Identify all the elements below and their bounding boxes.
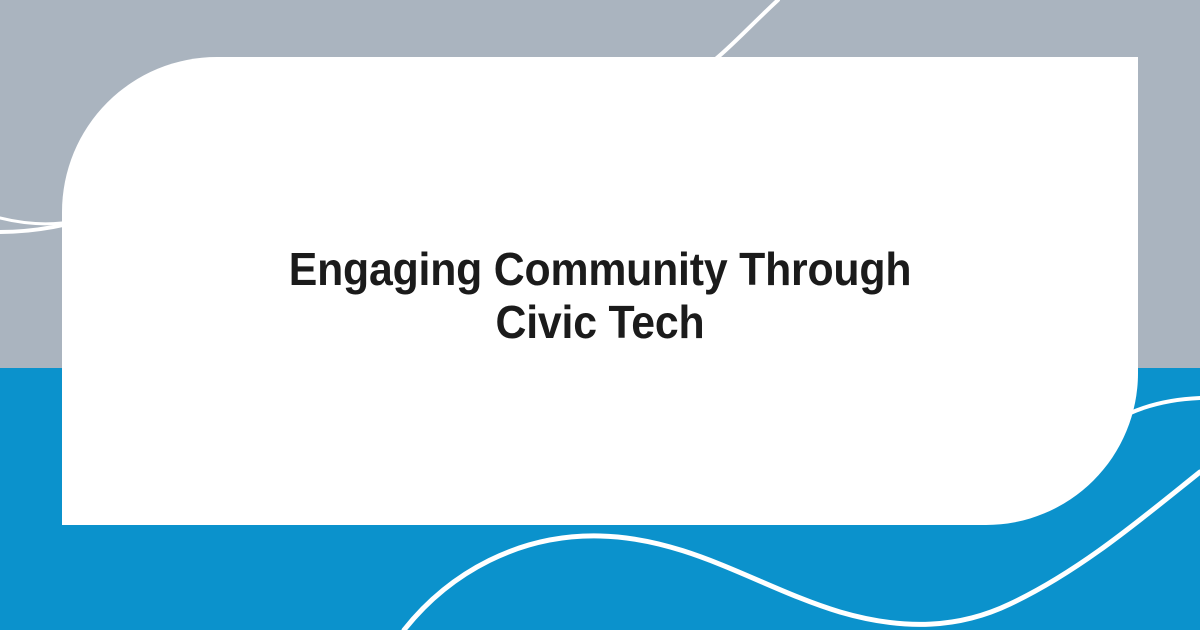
page-title: Engaging Community Through Civic Tech <box>265 243 935 350</box>
social-card-canvas: Engaging Community Through Civic Tech <box>0 0 1200 630</box>
white-content-card: Engaging Community Through Civic Tech <box>62 57 1138 525</box>
title-block: Engaging Community Through Civic Tech <box>240 243 960 350</box>
